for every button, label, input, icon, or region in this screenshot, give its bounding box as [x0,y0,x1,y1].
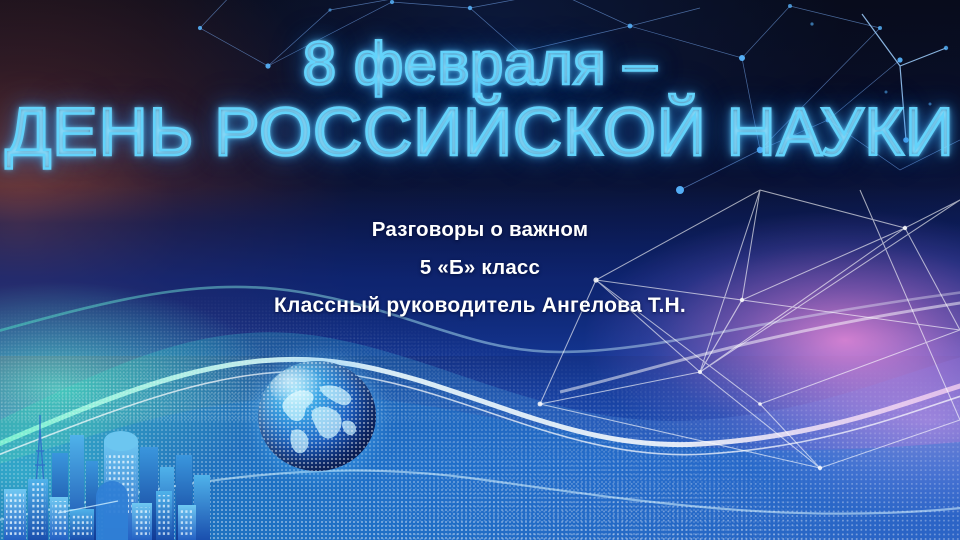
slide-subtitle: Разговоры о важном 5 «Б» класс Классный … [0,218,960,318]
globe-highlight [270,368,324,405]
slide-title: 8 февраля – ДЕНЬ РОССИЙСКОЙ НАУКИ [0,34,960,166]
presentation-slide: 8 февраля – ДЕНЬ РОССИЙСКОЙ НАУКИ Разгов… [0,0,960,540]
city-skyline [0,405,210,540]
subtitle-line-1: Разговоры о важном [0,218,960,242]
subtitle-line-2: 5 «Б» класс [0,256,960,280]
digital-globe [258,361,376,471]
title-line-2: ДЕНЬ РОССИЙСКОЙ НАУКИ [0,98,960,166]
title-line-1: 8 февраля – [0,34,960,94]
subtitle-line-3: Классный руководитель Ангелова Т.Н. [0,294,960,318]
